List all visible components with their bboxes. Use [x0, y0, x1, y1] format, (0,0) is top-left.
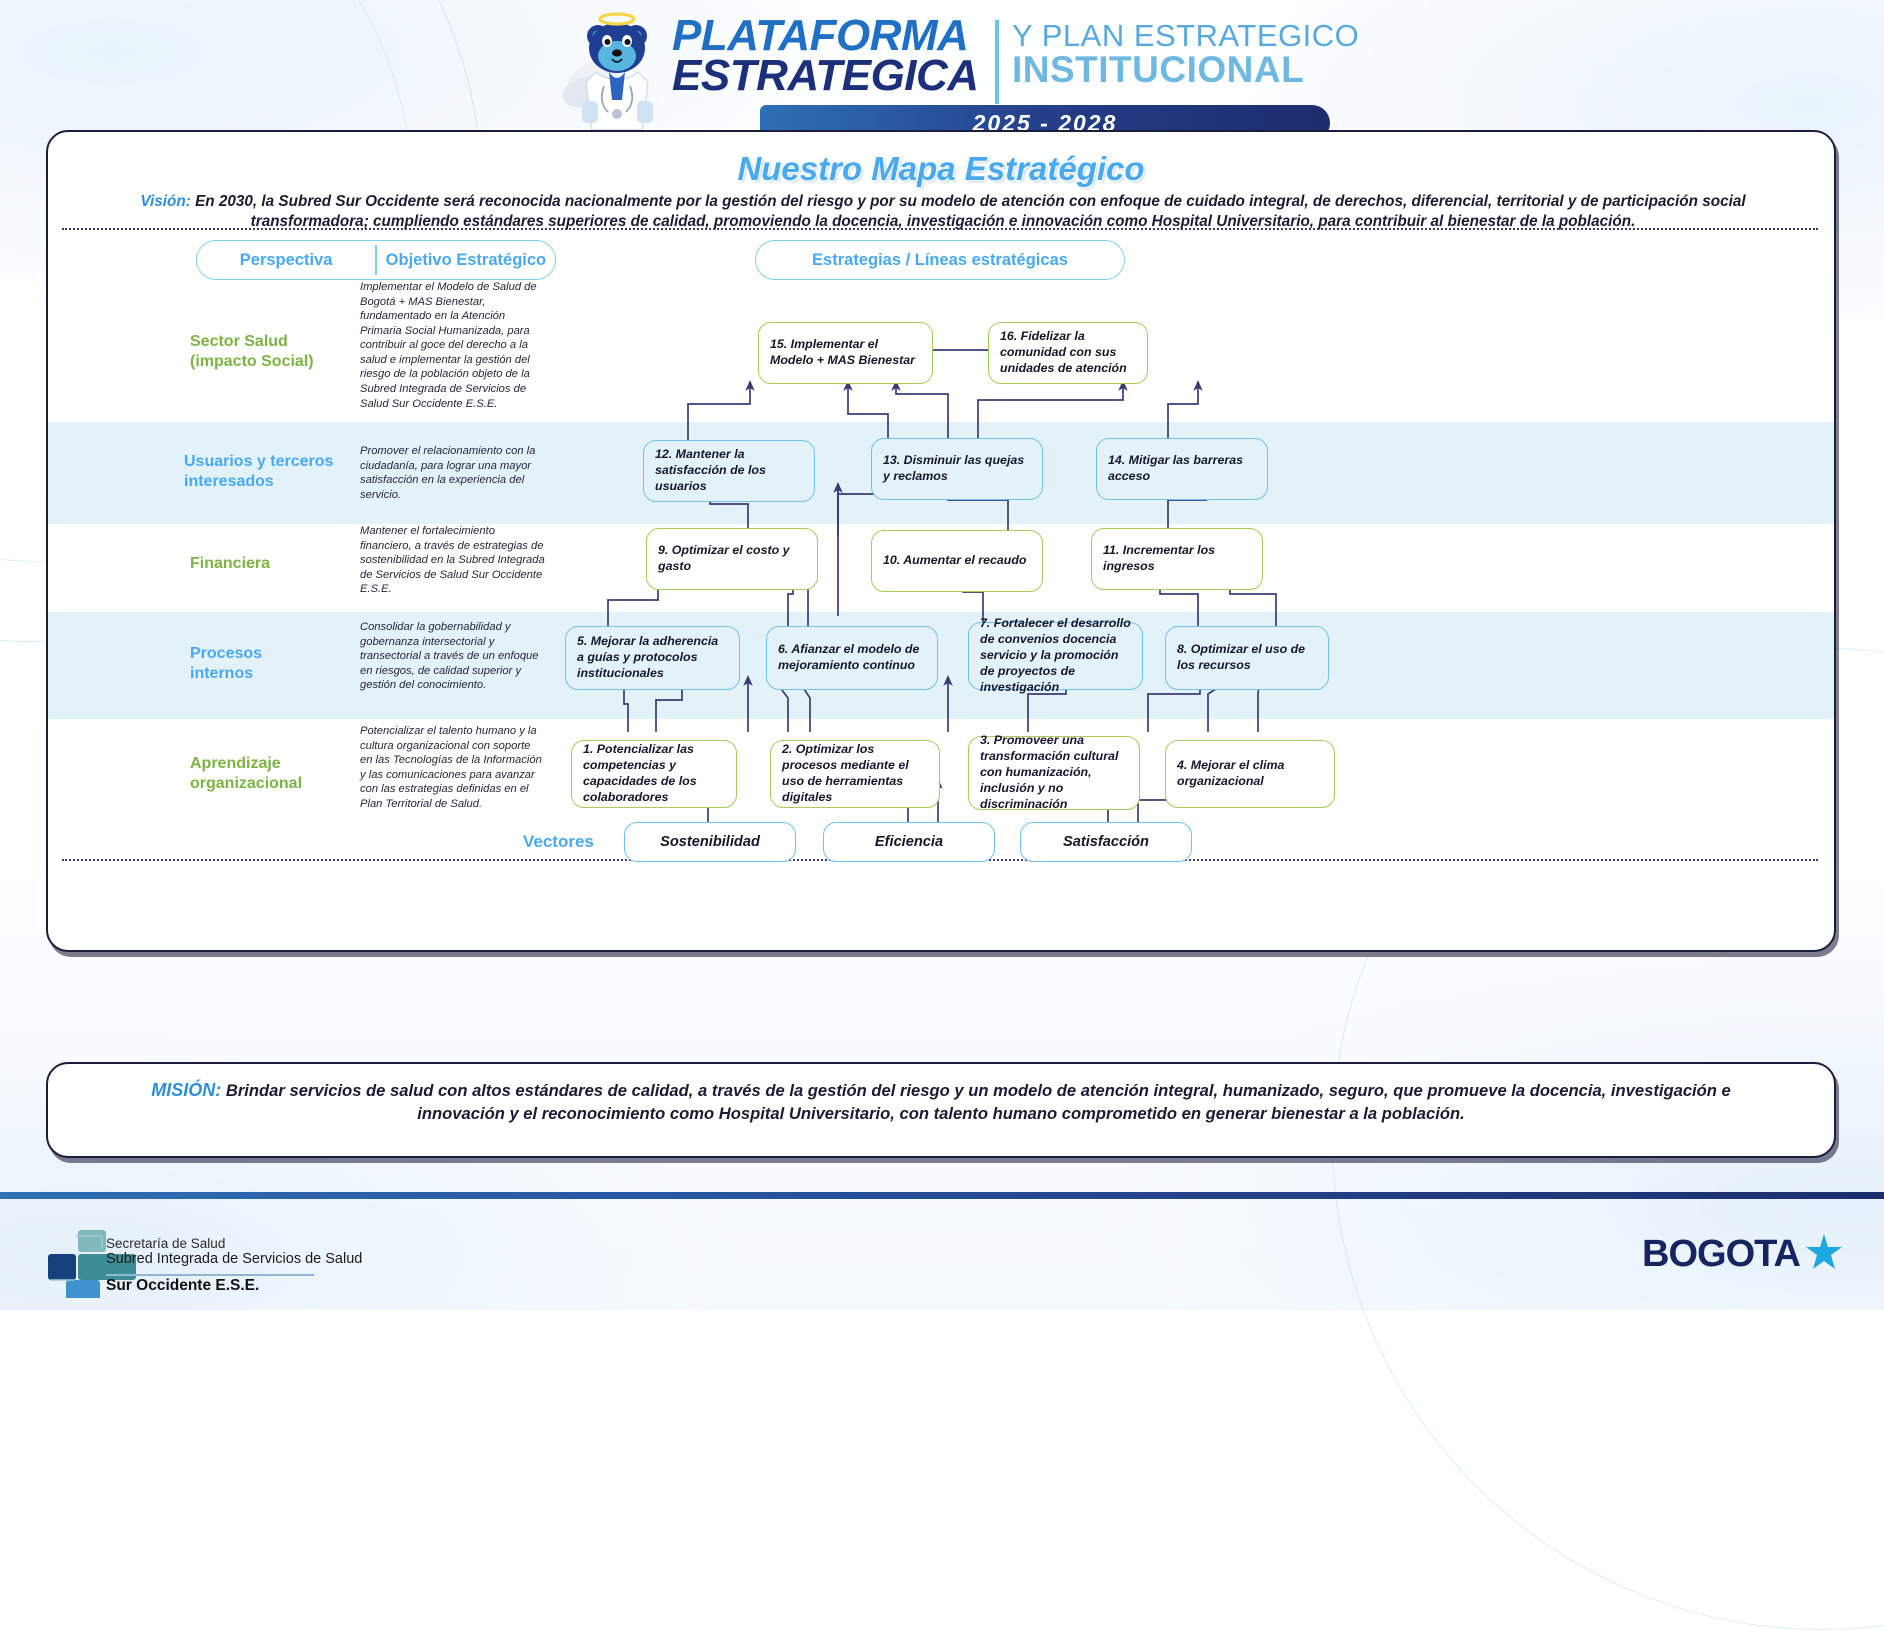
- strategy-label-14: 14. Mitigar las barreras acceso: [1108, 453, 1256, 485]
- divider-top: [62, 228, 1818, 230]
- strategy-label-3: 3. Promoveer una transformación cultural…: [980, 733, 1128, 812]
- perspective-label-financiera: Financiera: [190, 554, 270, 574]
- strategy-box-14[interactable]: 14. Mitigar las barreras acceso: [1096, 438, 1268, 500]
- objective-text-usuarios: Promover el relacionamiento con la ciuda…: [360, 444, 545, 502]
- mission-text: Brindar servicios de salud con altos est…: [226, 1081, 1731, 1123]
- logo-line-estrategica: ESTRATEGICA: [672, 56, 979, 96]
- strategy-label-11: 11. Incrementar los ingresos: [1103, 543, 1251, 575]
- strategy-box-12[interactable]: 12. Mantener la satisfacción de los usua…: [643, 440, 815, 502]
- strategy-box-3[interactable]: 3. Promoveer una transformación cultural…: [968, 736, 1140, 810]
- logo-subtitle-line2: INSTITUCIONAL: [1012, 51, 1359, 88]
- strategy-label-9: 9. Optimizar el costo y gasto: [658, 543, 806, 575]
- vision-statement: Visión: En 2030, la Subred Sur Occidente…: [118, 192, 1768, 233]
- logo-divider: [995, 20, 999, 104]
- strategy-label-15: 15. Implementar el Modelo + MAS Bienesta…: [770, 337, 921, 369]
- header-logo-band: PLATAFORMA ESTRATEGICA Y PLAN ESTRATEGIC…: [0, 0, 1884, 135]
- logo-subtitle-line1: Y PLAN ESTRATEGICO: [1012, 20, 1359, 51]
- strategy-label-13: 13. Disminuir las quejas y reclamos: [883, 453, 1031, 485]
- strategy-box-11[interactable]: 11. Incrementar los ingresos: [1091, 528, 1263, 590]
- bogota-wordmark: BOGOTA: [1642, 1233, 1800, 1276]
- perspective-label-procesos: Procesos internos: [190, 644, 262, 684]
- objective-text-aprendizaje: Potencializar el talento humano y la cul…: [360, 724, 545, 811]
- strategy-label-1: 1. Potencializar las competencias y capa…: [583, 742, 725, 806]
- vector-box-satisfaccion[interactable]: Satisfacción: [1020, 822, 1192, 862]
- strategy-box-15[interactable]: 15. Implementar el Modelo + MAS Bienesta…: [758, 322, 933, 384]
- mission-statement: MISIÓN: Brindar servicios de salud con a…: [108, 1078, 1774, 1125]
- logo-wordmark: PLATAFORMA ESTRATEGICA: [672, 16, 979, 97]
- header-pill-estrategias: Estrategias / Líneas estratégicas: [755, 240, 1125, 280]
- vector-label-eficiencia: Eficiencia: [875, 833, 943, 852]
- logo-subtitle: Y PLAN ESTRATEGICO INSTITUCIONAL: [1012, 20, 1359, 88]
- objective-text-sector-salud: Implementar el Modelo de Salud de Bogotá…: [360, 280, 545, 411]
- strategy-label-5: 5. Mejorar la adherencia a guías y proto…: [577, 634, 728, 682]
- mission-card: MISIÓN: Brindar servicios de salud con a…: [46, 1062, 1836, 1158]
- vector-box-sostenibilidad[interactable]: Sostenibilidad: [624, 822, 796, 862]
- pill-label-estrategias: Estrategias / Líneas estratégicas: [812, 251, 1068, 270]
- strategy-box-6[interactable]: 6. Afianzar el modelo de mejoramiento co…: [766, 626, 938, 690]
- strategy-label-8: 8. Optimizar el uso de los recursos: [1177, 642, 1317, 674]
- vector-label-satisfaccion: Satisfacción: [1063, 833, 1149, 852]
- footer-line-1: Secretaría de Salud: [106, 1236, 362, 1251]
- strategy-box-9[interactable]: 9. Optimizar el costo y gasto: [646, 528, 818, 590]
- strategy-label-6: 6. Afianzar el modelo de mejoramiento co…: [778, 642, 926, 674]
- perspective-label-sector-salud: Sector Salud (impacto Social): [190, 332, 314, 372]
- footer-line-3: Sur Occidente E.S.E.: [106, 1277, 259, 1295]
- strategy-box-5[interactable]: 5. Mejorar la adherencia a guías y proto…: [565, 626, 740, 690]
- vision-label: Visión:: [140, 193, 190, 210]
- strategy-box-7[interactable]: 7. Fortalecer el desarrollo de convenios…: [968, 622, 1143, 690]
- mission-label: MISIÓN:: [151, 1080, 221, 1100]
- strategy-box-10[interactable]: 10. Aumentar el recaudo: [871, 530, 1043, 592]
- strategy-label-4: 4. Mejorar el clima organizacional: [1177, 758, 1323, 790]
- strategy-box-16[interactable]: 16. Fidelizar la comunidad con sus unida…: [988, 322, 1148, 384]
- band-procesos: [48, 612, 1834, 719]
- strategy-box-4[interactable]: 4. Mejorar el clima organizacional: [1165, 740, 1335, 808]
- vector-label-sostenibilidad: Sostenibilidad: [660, 833, 760, 852]
- strategy-label-12: 12. Mantener la satisfacción de los usua…: [655, 447, 803, 495]
- strategy-label-10: 10. Aumentar el recaudo: [883, 553, 1026, 569]
- strategy-label-2: 2. Optimizar los procesos mediante el us…: [782, 742, 928, 806]
- bear-mascot-icon: [562, 6, 672, 134]
- strategic-map-card: Nuestro Mapa Estratégico Visión: En 2030…: [46, 130, 1836, 952]
- footer-line-2: Subred Integrada de Servicios de Salud: [106, 1251, 362, 1267]
- pill-label-perspectiva: Perspectiva: [197, 251, 375, 270]
- vector-box-eficiencia[interactable]: Eficiencia: [823, 822, 995, 862]
- perspective-label-usuarios: Usuarios y terceros interesados: [184, 452, 333, 492]
- header-pill-perspectiva-objetivo: Perspectiva Objetivo Estratégico: [196, 240, 556, 280]
- vision-text: En 2030, la Subred Sur Occidente será re…: [195, 193, 1746, 230]
- strategy-box-1[interactable]: 1. Potencializar las competencias y capa…: [571, 740, 737, 808]
- bogota-brand: BOGOTA: [1642, 1232, 1844, 1276]
- strategy-label-16: 16. Fidelizar la comunidad con sus unida…: [1000, 329, 1136, 377]
- logo-line-plataforma: PLATAFORMA: [672, 16, 979, 56]
- strategy-box-2[interactable]: 2. Optimizar los procesos mediante el us…: [770, 740, 940, 808]
- bogota-star-icon: [1804, 1232, 1844, 1276]
- footer-accent-rule: [0, 1192, 1884, 1199]
- perspective-label-aprendizaje: Aprendizaje organizacional: [190, 754, 302, 794]
- objective-text-procesos: Consolidar la gobernabilidad y gobernanz…: [360, 620, 545, 693]
- footer-text-block: Secretaría de Salud Subred Integrada de …: [106, 1236, 362, 1267]
- strategy-box-13[interactable]: 13. Disminuir las quejas y reclamos: [871, 438, 1043, 500]
- strategy-box-8[interactable]: 8. Optimizar el uso de los recursos: [1165, 626, 1329, 690]
- objective-text-financiera: Mantener el fortalecimiento financiero, …: [360, 524, 545, 597]
- vectores-label: Vectores: [523, 832, 594, 852]
- strategy-label-7: 7. Fortalecer el desarrollo de convenios…: [980, 616, 1131, 695]
- footer-divider: [106, 1274, 314, 1276]
- page-title: Nuestro Mapa Estratégico: [48, 150, 1834, 188]
- pill-label-objetivo: Objetivo Estratégico: [377, 251, 555, 270]
